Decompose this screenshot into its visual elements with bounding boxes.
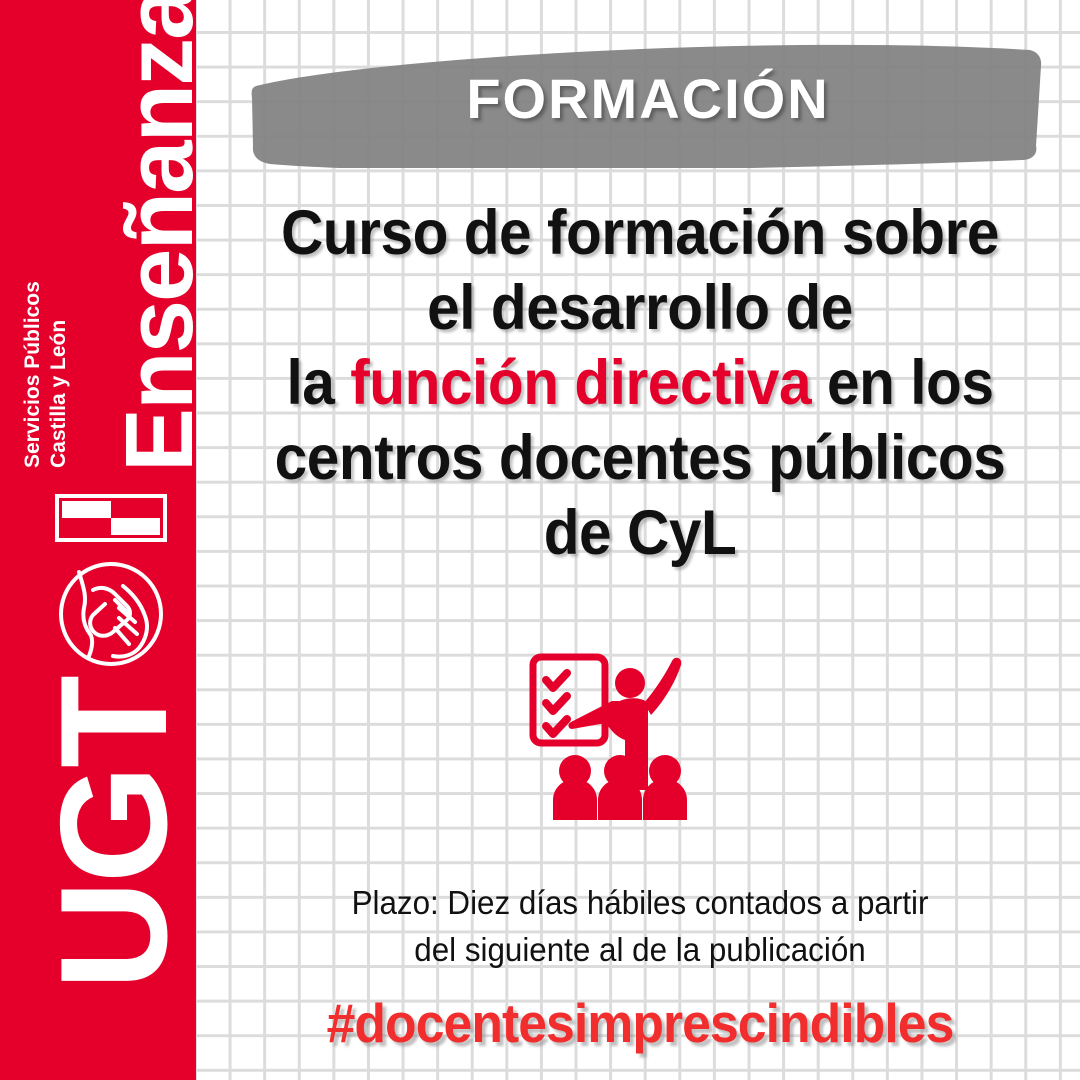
headline-line-3-after: en los	[811, 348, 993, 418]
ugt-bars-logo	[55, 494, 167, 542]
deadline-text: Plazo: Diez días hábiles contados a part…	[222, 880, 1058, 974]
brand-sidebar: Enseñanza Servicios Públicos Castilla y …	[0, 0, 196, 1080]
ugt-bars-logo-inner	[62, 501, 160, 535]
training-presentation-icon	[520, 645, 720, 845]
audience-body-2	[598, 779, 642, 820]
formacion-ribbon: FORMACIÓN	[248, 28, 1048, 168]
deadline-line-2: del siguiente al de la publicación	[222, 927, 1058, 974]
brand-rotated-group: Enseñanza Servicios Públicos Castilla y …	[14, 72, 204, 472]
presenter-raised-arm	[644, 658, 681, 715]
bars-cell-bottom-left	[62, 518, 111, 535]
headline-accent-phrase: función directiva	[350, 348, 811, 418]
bars-cell-bottom-right	[111, 518, 160, 535]
poster-canvas: Enseñanza Servicios Públicos Castilla y …	[0, 0, 1080, 1080]
handshake-circle-icon	[57, 560, 165, 668]
presenter-head	[615, 668, 645, 698]
deadline-line-1: Plazo: Diez días hábiles contados a part…	[222, 880, 1058, 927]
brand-name: Enseñanza	[116, 0, 204, 472]
ugt-acronym: UGT	[38, 678, 190, 990]
brand-subtitle-line-2: Castilla y León	[46, 281, 72, 468]
headline-line-4: centros docentes públicos	[231, 421, 1049, 496]
headline-line-1: Curso de formación sobre	[231, 196, 1049, 271]
audience-body-1	[553, 779, 597, 820]
bars-cell-top-right	[111, 501, 160, 518]
page-title: Curso de formación sobre el desarrollo d…	[231, 196, 1049, 571]
headline-line-5: de CyL	[231, 496, 1049, 571]
brand-lockup: Enseñanza Servicios Públicos Castilla y …	[0, 0, 196, 500]
ribbon-label: FORMACIÓN	[248, 66, 1048, 131]
audience-body-3	[643, 779, 687, 820]
bars-cell-top-left	[62, 501, 111, 518]
brand-subtitle-line-1: Servicios Públicos	[20, 281, 46, 468]
brand-subtitle: Servicios Públicos Castilla y León	[20, 281, 71, 468]
headline-line-3: la función directiva en los	[231, 346, 1049, 421]
headline-line-3-before: la	[286, 348, 350, 418]
headline-line-2: el desarrollo de	[231, 271, 1049, 346]
campaign-hashtag: #docentesimprescindibles	[226, 991, 1053, 1055]
